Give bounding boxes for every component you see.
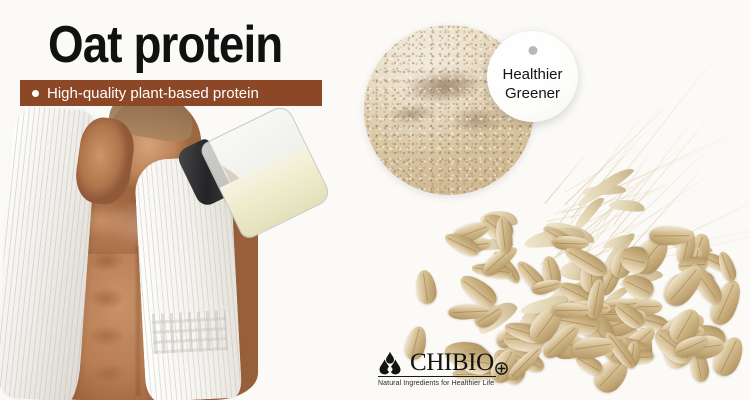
shaker-liquid <box>220 146 332 240</box>
bullet-icon <box>32 90 39 97</box>
page-title: Oat protein <box>48 18 282 72</box>
subtitle-text: High-quality plant-based protein <box>47 86 259 101</box>
badge-hole-dot <box>528 46 537 55</box>
badge-line-2: Greener <box>505 84 560 103</box>
shaker-body <box>198 103 333 241</box>
healthier-greener-badge: Healthier Greener <box>487 31 578 122</box>
oat-protein-banner: Healthier Greener Oat protein High-quali… <box>0 0 750 400</box>
logo-wordmark-text: CHIBI <box>410 350 476 375</box>
logo-wordmark: CHIBI O <box>410 350 508 375</box>
athlete-photo <box>0 96 340 400</box>
plus-icon <box>495 355 508 368</box>
subtitle-bar: High-quality plant-based protein <box>20 80 322 106</box>
logo-row: CHIBI O <box>378 349 502 375</box>
logo-wordmark-o: O <box>476 350 494 375</box>
oat-grain-stray <box>414 269 439 306</box>
logo-divider <box>378 376 496 377</box>
chibio-logo: CHIBI O Natural Ingredients for Healthie… <box>378 349 502 387</box>
badge-line-1: Healthier <box>502 65 562 84</box>
flame-droplet-icon <box>378 351 408 375</box>
logo-tagline: Natural Ingredients for Healthier Life <box>378 379 502 388</box>
